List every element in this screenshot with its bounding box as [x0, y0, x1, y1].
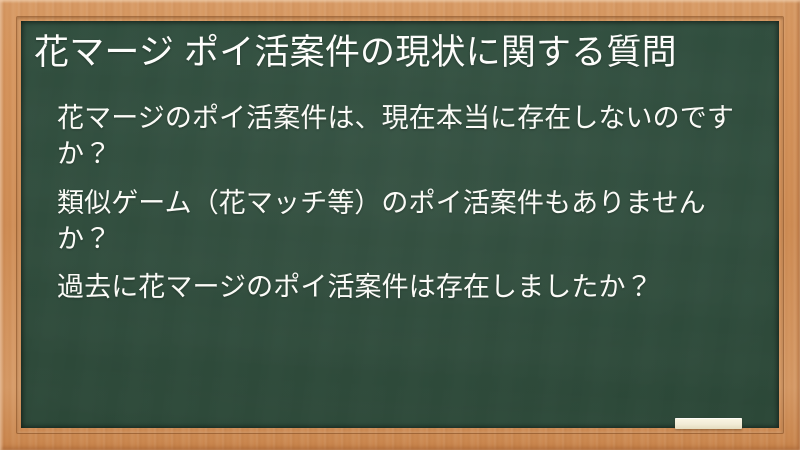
list-item: 過去に花マージのポイ活案件は存在しましたか？	[57, 269, 759, 305]
chalkboard-surface: 花マージ ポイ活案件の現状に関する質問 花マージのポイ活案件は、現在本当に存在し…	[21, 21, 779, 428]
chalk-stick-icon	[675, 418, 742, 429]
list-item: 類似ゲーム（花マッチ等）のポイ活案件もありませんか？	[57, 185, 759, 258]
question-list: 花マージのポイ活案件は、現在本当に存在しないのですか？ 類似ゲーム（花マッチ等）…	[34, 100, 759, 306]
board-content: 花マージ ポイ活案件の現状に関する質問 花マージのポイ活案件は、現在本当に存在し…	[21, 21, 779, 306]
chalkboard-slide: 花マージ ポイ活案件の現状に関する質問 花マージのポイ活案件は、現在本当に存在し…	[0, 0, 800, 450]
list-item: 花マージのポイ活案件は、現在本当に存在しないのですか？	[57, 100, 759, 173]
page-title: 花マージ ポイ活案件の現状に関する質問	[34, 32, 759, 74]
